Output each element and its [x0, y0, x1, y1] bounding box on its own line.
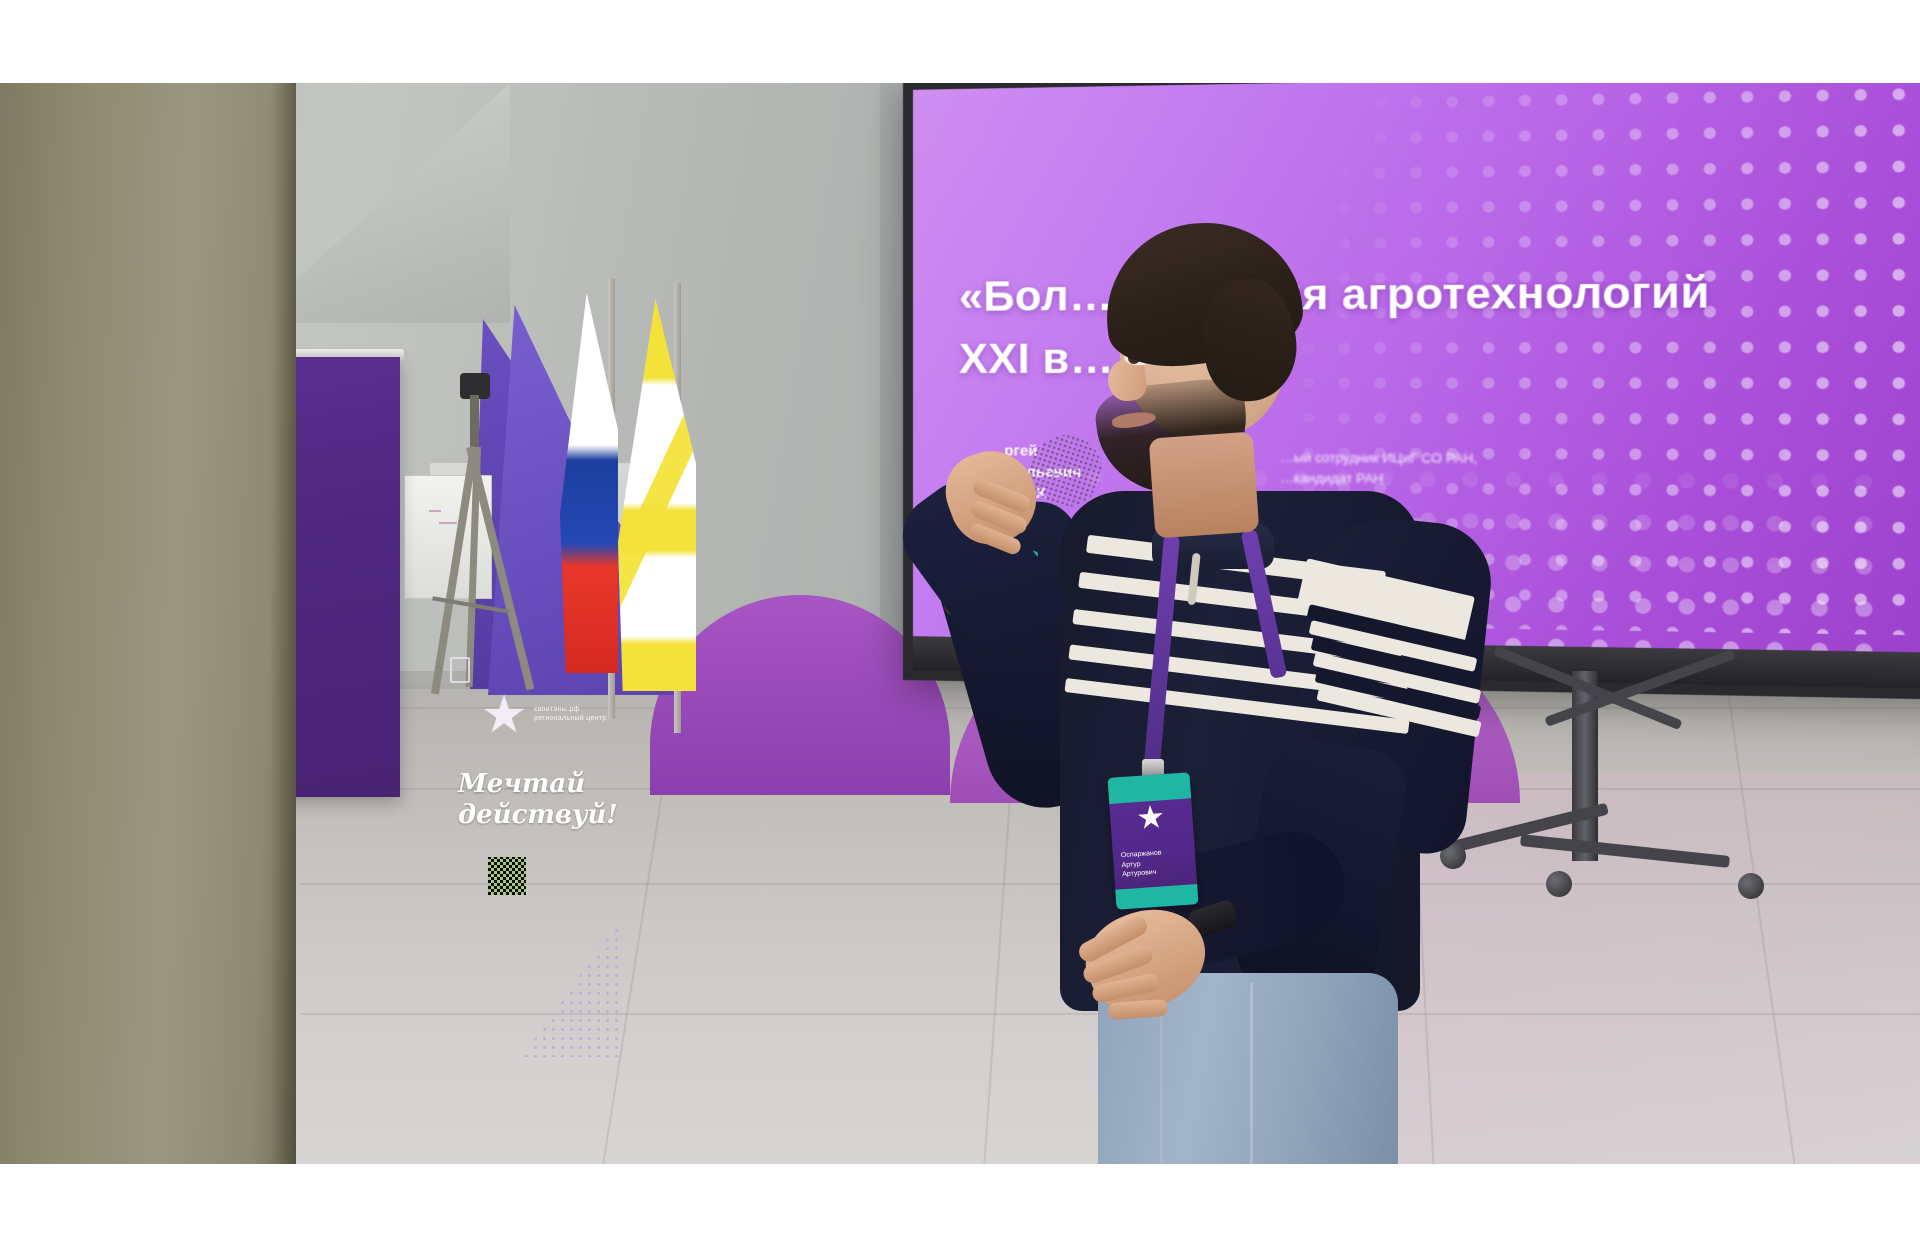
- neck: [1149, 431, 1260, 538]
- photograph: «Бол…овы» для агротехнологий XXI в… …рге…: [0, 83, 1920, 1164]
- jeans-seam: [1160, 1003, 1163, 1164]
- letterbox-top: [0, 0, 1920, 83]
- jeans-seam: [1250, 983, 1253, 1164]
- badge-name-text: Оспаржанов Артур Артурович: [1121, 847, 1191, 880]
- photo-frame: «Бол…овы» для агротехнологий XXI в… …рге…: [0, 0, 1920, 1254]
- pillar-shadow-edge: [270, 83, 296, 1164]
- name-badge: ★ Оспаржанов Артур Артурович: [1107, 772, 1198, 909]
- foreground-pillar: [0, 83, 296, 1164]
- star-icon: ★: [1135, 800, 1171, 836]
- letterbox-bottom: [0, 1164, 1920, 1254]
